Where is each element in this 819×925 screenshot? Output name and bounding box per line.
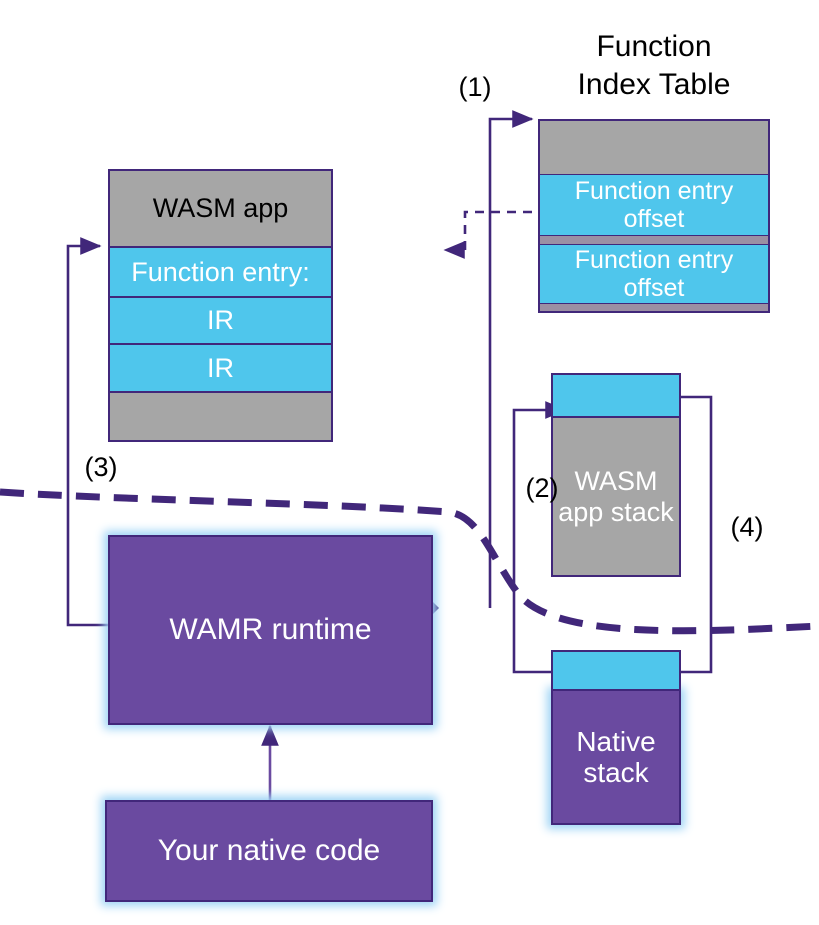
native-stack: Native stack (551, 650, 681, 825)
wasm-app-ir-2: IR (110, 345, 331, 393)
wasm-app-ir-1-label: IR (207, 305, 234, 335)
wasm-app-ir-1: IR (110, 298, 331, 345)
your-native-code-box: Your native code (105, 800, 433, 902)
function-index-table-title: Function Index Table (538, 28, 770, 105)
wasm-app-box: WASM app Function entry: IR IR (108, 169, 333, 442)
diagram-canvas: Function Index Table Function entry offs… (0, 0, 819, 925)
wasm-app-ir-2-label: IR (207, 353, 234, 383)
your-native-code-label: Your native code (158, 834, 380, 868)
wasm-app-stack-band (551, 373, 681, 418)
step-label-1: (1) (446, 72, 504, 103)
connector-step-3 (68, 246, 108, 625)
native-stack-body: Native stack (551, 691, 681, 825)
connector-step-1 (490, 119, 532, 608)
step-label-3: (3) (72, 452, 130, 483)
fit-divider-1 (540, 236, 768, 244)
native-stack-body-label: Native stack (576, 726, 655, 789)
wasm-app-header-label: WASM app (153, 193, 289, 223)
wasm-app-function-entry: Function entry: (110, 246, 331, 298)
fit-row-offset-2-label: Function entry offset (575, 246, 733, 302)
wasm-app-header: WASM app (110, 171, 331, 246)
fit-divider-2 (540, 304, 768, 311)
wasm-app-footer (110, 393, 331, 440)
native-stack-band (551, 650, 681, 691)
wamr-runtime-box: WAMR runtime (108, 535, 433, 725)
fit-row-offset-2: Function entry offset (540, 244, 768, 304)
wasm-app-function-entry-label: Function entry: (131, 257, 310, 287)
step-label-2: (2) (513, 473, 571, 504)
fit-row-offset-1-label: Function entry offset (575, 177, 733, 233)
connector-offset-dashed (445, 212, 548, 250)
fit-row-offset-1: Function entry offset (540, 174, 768, 236)
function-index-table: Function entry offset Function entry off… (538, 119, 770, 313)
wasm-app-stack-body-label: WASM app stack (558, 466, 674, 526)
step-label-4: (4) (718, 512, 776, 543)
fit-row-header (540, 121, 768, 174)
wamr-runtime-label: WAMR runtime (169, 613, 371, 647)
